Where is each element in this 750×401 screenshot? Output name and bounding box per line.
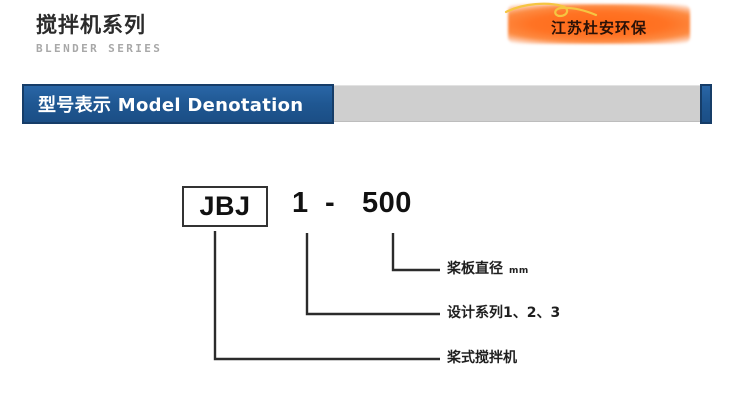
annotation-label-2: 设计系列1、2、3 bbox=[447, 305, 560, 321]
leader-lines bbox=[0, 0, 750, 401]
annotation-blade-diameter: 桨板直径mm bbox=[447, 262, 529, 276]
annotation-label-1: 桨板直径 bbox=[447, 261, 503, 277]
annotation-design-series: 设计系列1、2、3 bbox=[447, 306, 560, 320]
annotation-paddle-mixer: 桨式搅拌机 bbox=[447, 351, 517, 365]
annotation-label-3: 桨式搅拌机 bbox=[447, 350, 517, 366]
slide-page: 搅拌机系列 BLENDER SERIES 江苏杜安环保 型号表示 Model D… bbox=[0, 0, 750, 401]
model-denotation-diagram: JBJ 1 - 500 桨板直径mm 设计系列1、2、3 桨式搅拌机 bbox=[0, 0, 750, 401]
annotation-unit-1: mm bbox=[509, 266, 529, 276]
